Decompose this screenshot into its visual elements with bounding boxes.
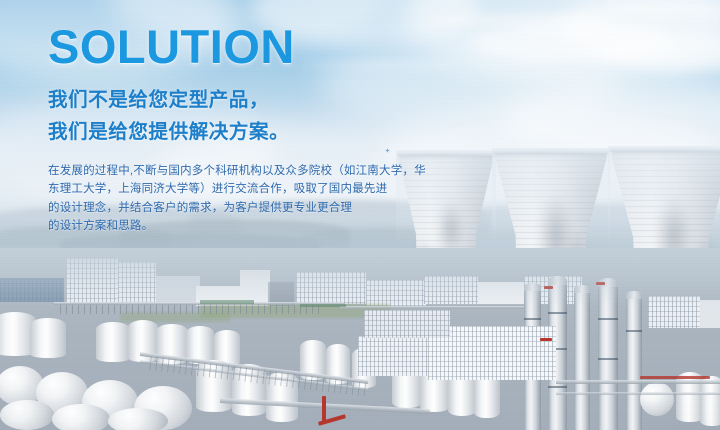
- subheadline: 我们不是给您定型产品， 我们是给您提供解决方案。: [48, 85, 408, 148]
- subheadline-line-1: 我们不是给您定型产品，: [48, 85, 408, 117]
- body-paragraph: 在发展的过程中,不断与国内多个科研机构以及众多院校（如江南大学，华 东理工大学，…: [48, 162, 408, 237]
- subheadline-line-2: 我们是给您提供解决方案。: [48, 117, 408, 149]
- body-line-2: 东理工大学，上海同济大学等）进行交流合作，吸取了国内最先进: [48, 180, 408, 199]
- body-line-3: 的设计理念，并结合客户的需求，为客户提供更专业更合理: [48, 199, 408, 218]
- body-line-1: 在发展的过程中,不断与国内多个科研机构以及众多院校（如江南大学，华: [48, 162, 408, 181]
- banner-copy: SOLUTION 我们不是给您定型产品， 我们是给您提供解决方案。 在发展的过程…: [48, 22, 408, 236]
- solution-banner: SOLUTION 我们不是给您定型产品， 我们是给您提供解决方案。 在发展的过程…: [0, 0, 720, 430]
- page-title: SOLUTION: [48, 22, 408, 71]
- body-line-4: 的设计方案和思路。: [48, 217, 408, 236]
